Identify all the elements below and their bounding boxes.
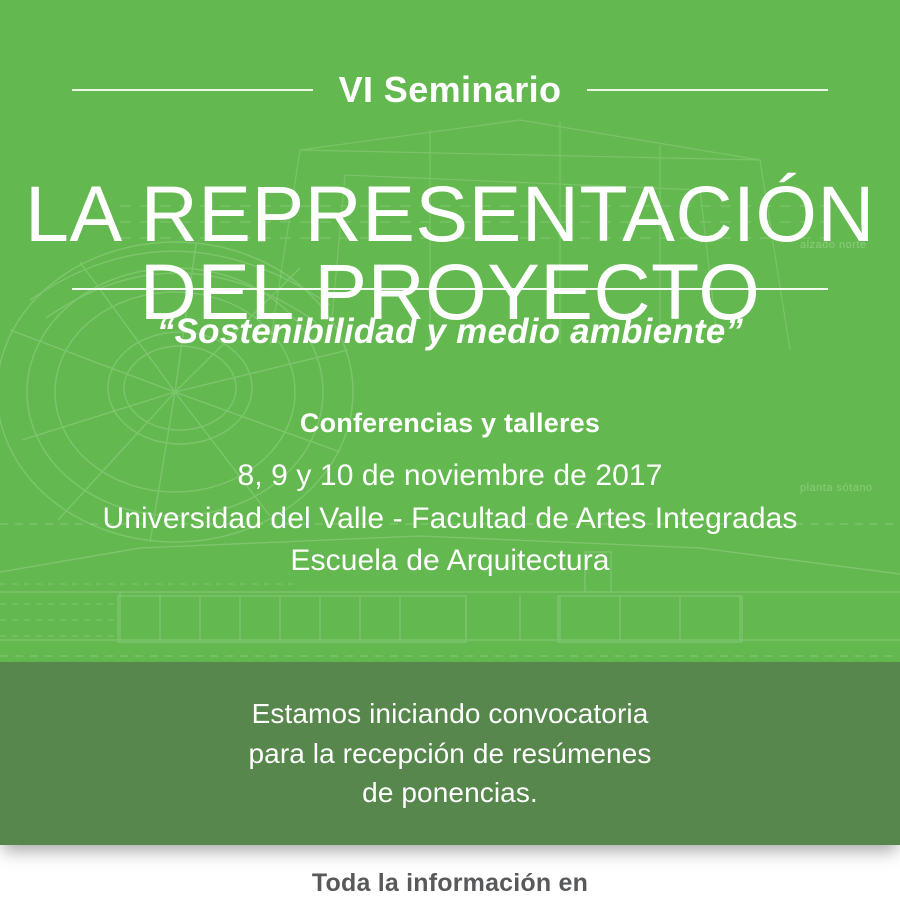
poster-headline: LA REPRESENTACIÓN DEL PROYECTO [0,175,900,331]
hero-band: alzado norte planta sótano VI Seminario … [0,0,900,662]
eyebrow-row: VI Seminario [72,72,828,108]
footer-more-info-label: Toda la información en [0,869,900,898]
eyebrow-label: VI Seminario [339,72,562,108]
poster-theme-quote: “Sostenibilidad y medio ambiente” [0,312,900,352]
headline-divider-rule [72,288,828,290]
hero-content: VI Seminario LA REPRESENTACIÓN DEL PROYE… [0,0,900,662]
eyebrow-rule-left [72,89,313,91]
event-school: Escuela de Arquitectura [0,540,900,583]
footer-band: Toda la información en [0,845,900,900]
event-poster: alzado norte planta sótano VI Seminario … [0,0,900,900]
event-activities: Conferencias y talleres [0,404,900,443]
callout-band: Estamos iniciando convocatoria para la r… [0,662,900,845]
callout-message: Estamos iniciando convocatoria para la r… [248,694,651,813]
event-institution: Universidad del Valle - Facultad de Arte… [0,498,900,541]
eyebrow-rule-right [587,89,828,91]
event-details: Conferencias y talleres 8, 9 y 10 de nov… [0,404,900,583]
event-dates: 8, 9 y 10 de noviembre de 2017 [0,455,900,498]
